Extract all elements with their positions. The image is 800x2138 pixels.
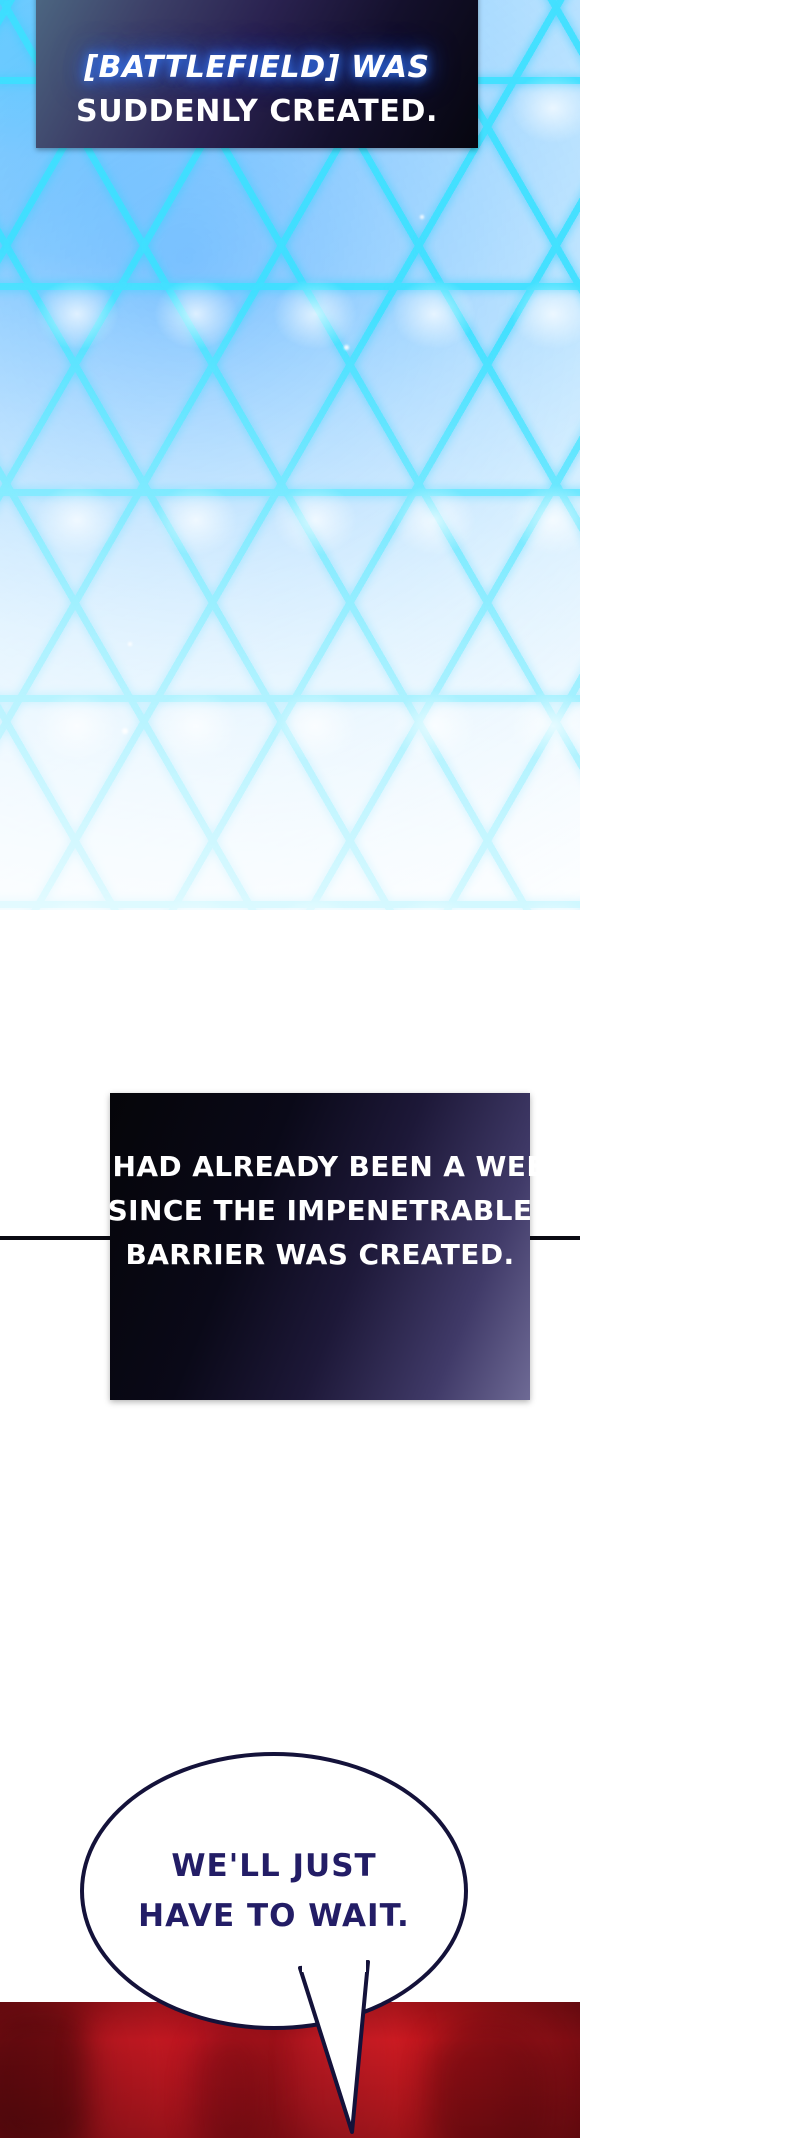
spark-particle — [344, 345, 349, 350]
spark-particle — [122, 728, 128, 734]
speech-bubble-wait: WE'LL JUST HAVE TO WAIT. — [80, 1752, 468, 2030]
narration-box-top: [BATTLEFIELD] WAS SUDDENLY CREATED. — [36, 0, 478, 148]
narration-middle-line-2: SINCE THE IMPENETRABLE — [108, 1189, 533, 1233]
narration-middle-line-3: BARRIER WAS CREATED. — [125, 1233, 514, 1277]
narration-middle-line-1: IT HAD ALREADY BEEN A WEEK — [72, 1145, 568, 1189]
narration-top-line-1: [BATTLEFIELD] WAS — [84, 46, 430, 90]
speech-bubble-line-1: WE'LL JUST — [171, 1841, 376, 1891]
comic-page: [BATTLEFIELD] WAS SUDDENLY CREATED. IT H… — [0, 0, 800, 2138]
speech-bubble-line-2: HAVE TO WAIT. — [138, 1891, 410, 1941]
spark-particle — [128, 642, 132, 646]
narration-top-line-2: SUDDENLY CREATED. — [76, 90, 438, 134]
narration-box-middle: IT HAD ALREADY BEEN A WEEK SINCE THE IMP… — [110, 1093, 530, 1400]
spark-particle — [420, 215, 424, 219]
